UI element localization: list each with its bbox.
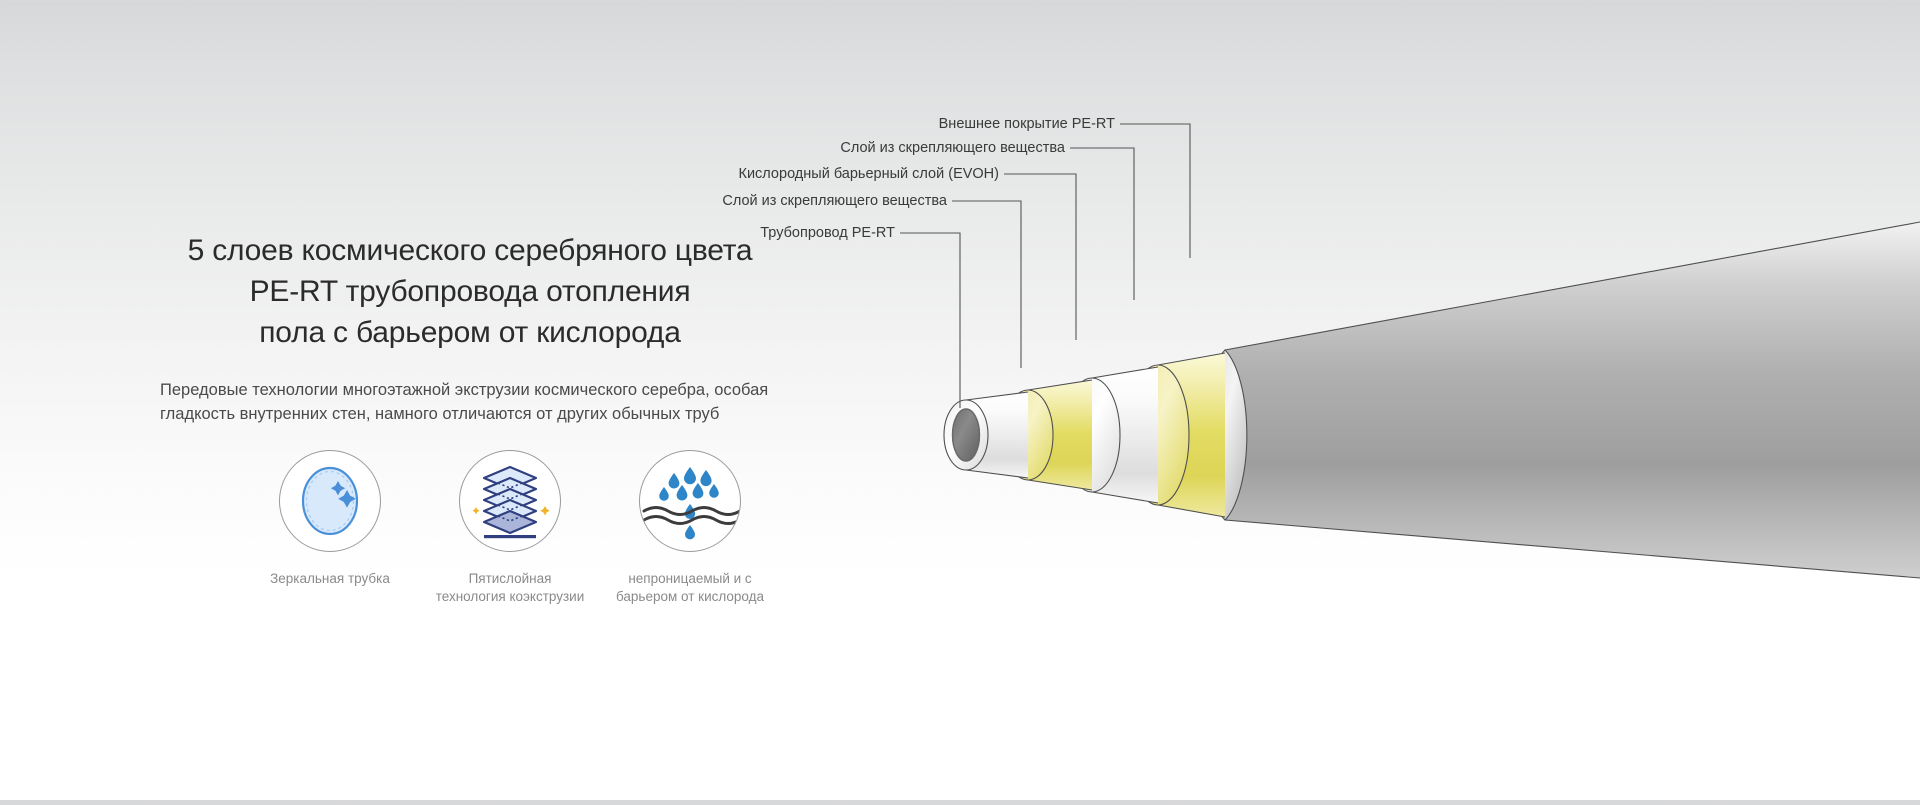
feature-caption-line: Пятислойная bbox=[436, 570, 585, 588]
subtitle-line-1: Передовые технологии многоэтажной экстру… bbox=[160, 378, 890, 402]
callout-oxygen-barrier: Кислородный барьерный слой (EVOH) bbox=[739, 166, 999, 182]
mirror-tube-icon bbox=[279, 450, 381, 552]
subtitle-line-2: гладкость внутренних стен, намного отлич… bbox=[160, 402, 890, 426]
feature-caption-line: Зеркальная трубка bbox=[270, 570, 390, 588]
feature-caption-five-layer: Пятислойная технология коэкструзии bbox=[436, 570, 585, 606]
callout-outer-coating: Внешнее покрытие PE-RT bbox=[939, 116, 1115, 132]
feature-item-water-barrier: непроницаемый и с барьером от кислорода bbox=[600, 450, 780, 606]
feature-caption-line: технология коэкструзии bbox=[436, 588, 585, 606]
info-panel: 5 слоев космического серебряного цвета P… bbox=[0, 0, 900, 800]
callout-adhesive-inner: Слой из скрепляющего вещества bbox=[722, 193, 947, 209]
callout-pert-pipe: Трубопровод PE-RT bbox=[760, 225, 895, 241]
feature-item-mirror-tube: Зеркальная трубка bbox=[240, 450, 420, 606]
five-layer-stack-icon bbox=[459, 450, 561, 552]
water-barrier-icon bbox=[639, 450, 741, 552]
feature-caption-line: барьером от кислорода bbox=[616, 588, 764, 606]
title-line-1: 5 слоев космического серебряного цвета bbox=[120, 230, 820, 271]
page-title: 5 слоев космического серебряного цвета P… bbox=[120, 230, 820, 353]
callout-adhesive-outer: Слой из скрепляющего вещества bbox=[840, 140, 1065, 156]
feature-caption-line: непроницаемый и с bbox=[616, 570, 764, 588]
feature-caption-water-barrier: непроницаемый и с барьером от кислорода bbox=[616, 570, 764, 606]
feature-item-five-layer: Пятислойная технология коэкструзии bbox=[420, 450, 600, 606]
subtitle-text: Передовые технологии многоэтажной экстру… bbox=[160, 378, 890, 426]
title-line-3: пола с барьером от кислорода bbox=[120, 312, 820, 353]
title-line-2: PE-RT трубопровода отопления bbox=[120, 271, 820, 312]
feature-caption-mirror-tube: Зеркальная трубка bbox=[270, 570, 390, 588]
feature-list: Зеркальная трубка bbox=[240, 450, 860, 606]
pipe-diagram: Внешнее покрытие PE-RT Слой из скрепляющ… bbox=[880, 0, 1920, 800]
